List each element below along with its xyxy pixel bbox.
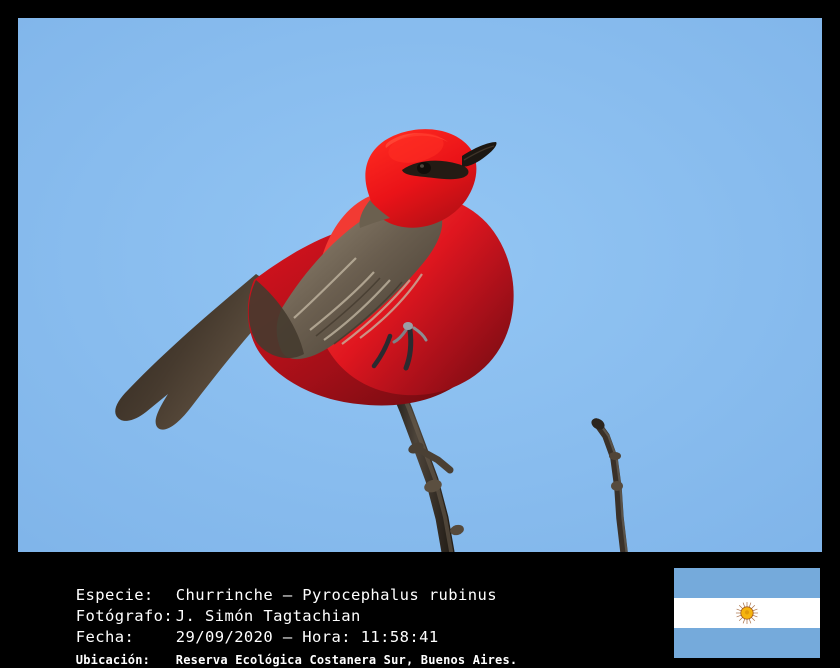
flag-stripe-top — [674, 568, 820, 598]
bird-foot — [403, 322, 413, 330]
branch-right-knob — [611, 481, 623, 491]
bird-eye-glint — [420, 164, 424, 168]
sun-of-may-icon — [734, 600, 760, 626]
flag-stripe-bottom — [674, 628, 820, 658]
photo-scene — [18, 18, 822, 552]
bird-photograph — [18, 18, 822, 552]
branch-right-knob — [609, 452, 621, 460]
photo-card: Especie:Churrinche — Pyrocephalus rubinu… — [0, 0, 840, 668]
sun-face — [745, 610, 749, 614]
caption-row-fuente: Fuente:www.siyc.com.ar/fotos — [18, 647, 332, 668]
bird-eye — [417, 162, 431, 174]
argentina-flag — [674, 568, 820, 658]
